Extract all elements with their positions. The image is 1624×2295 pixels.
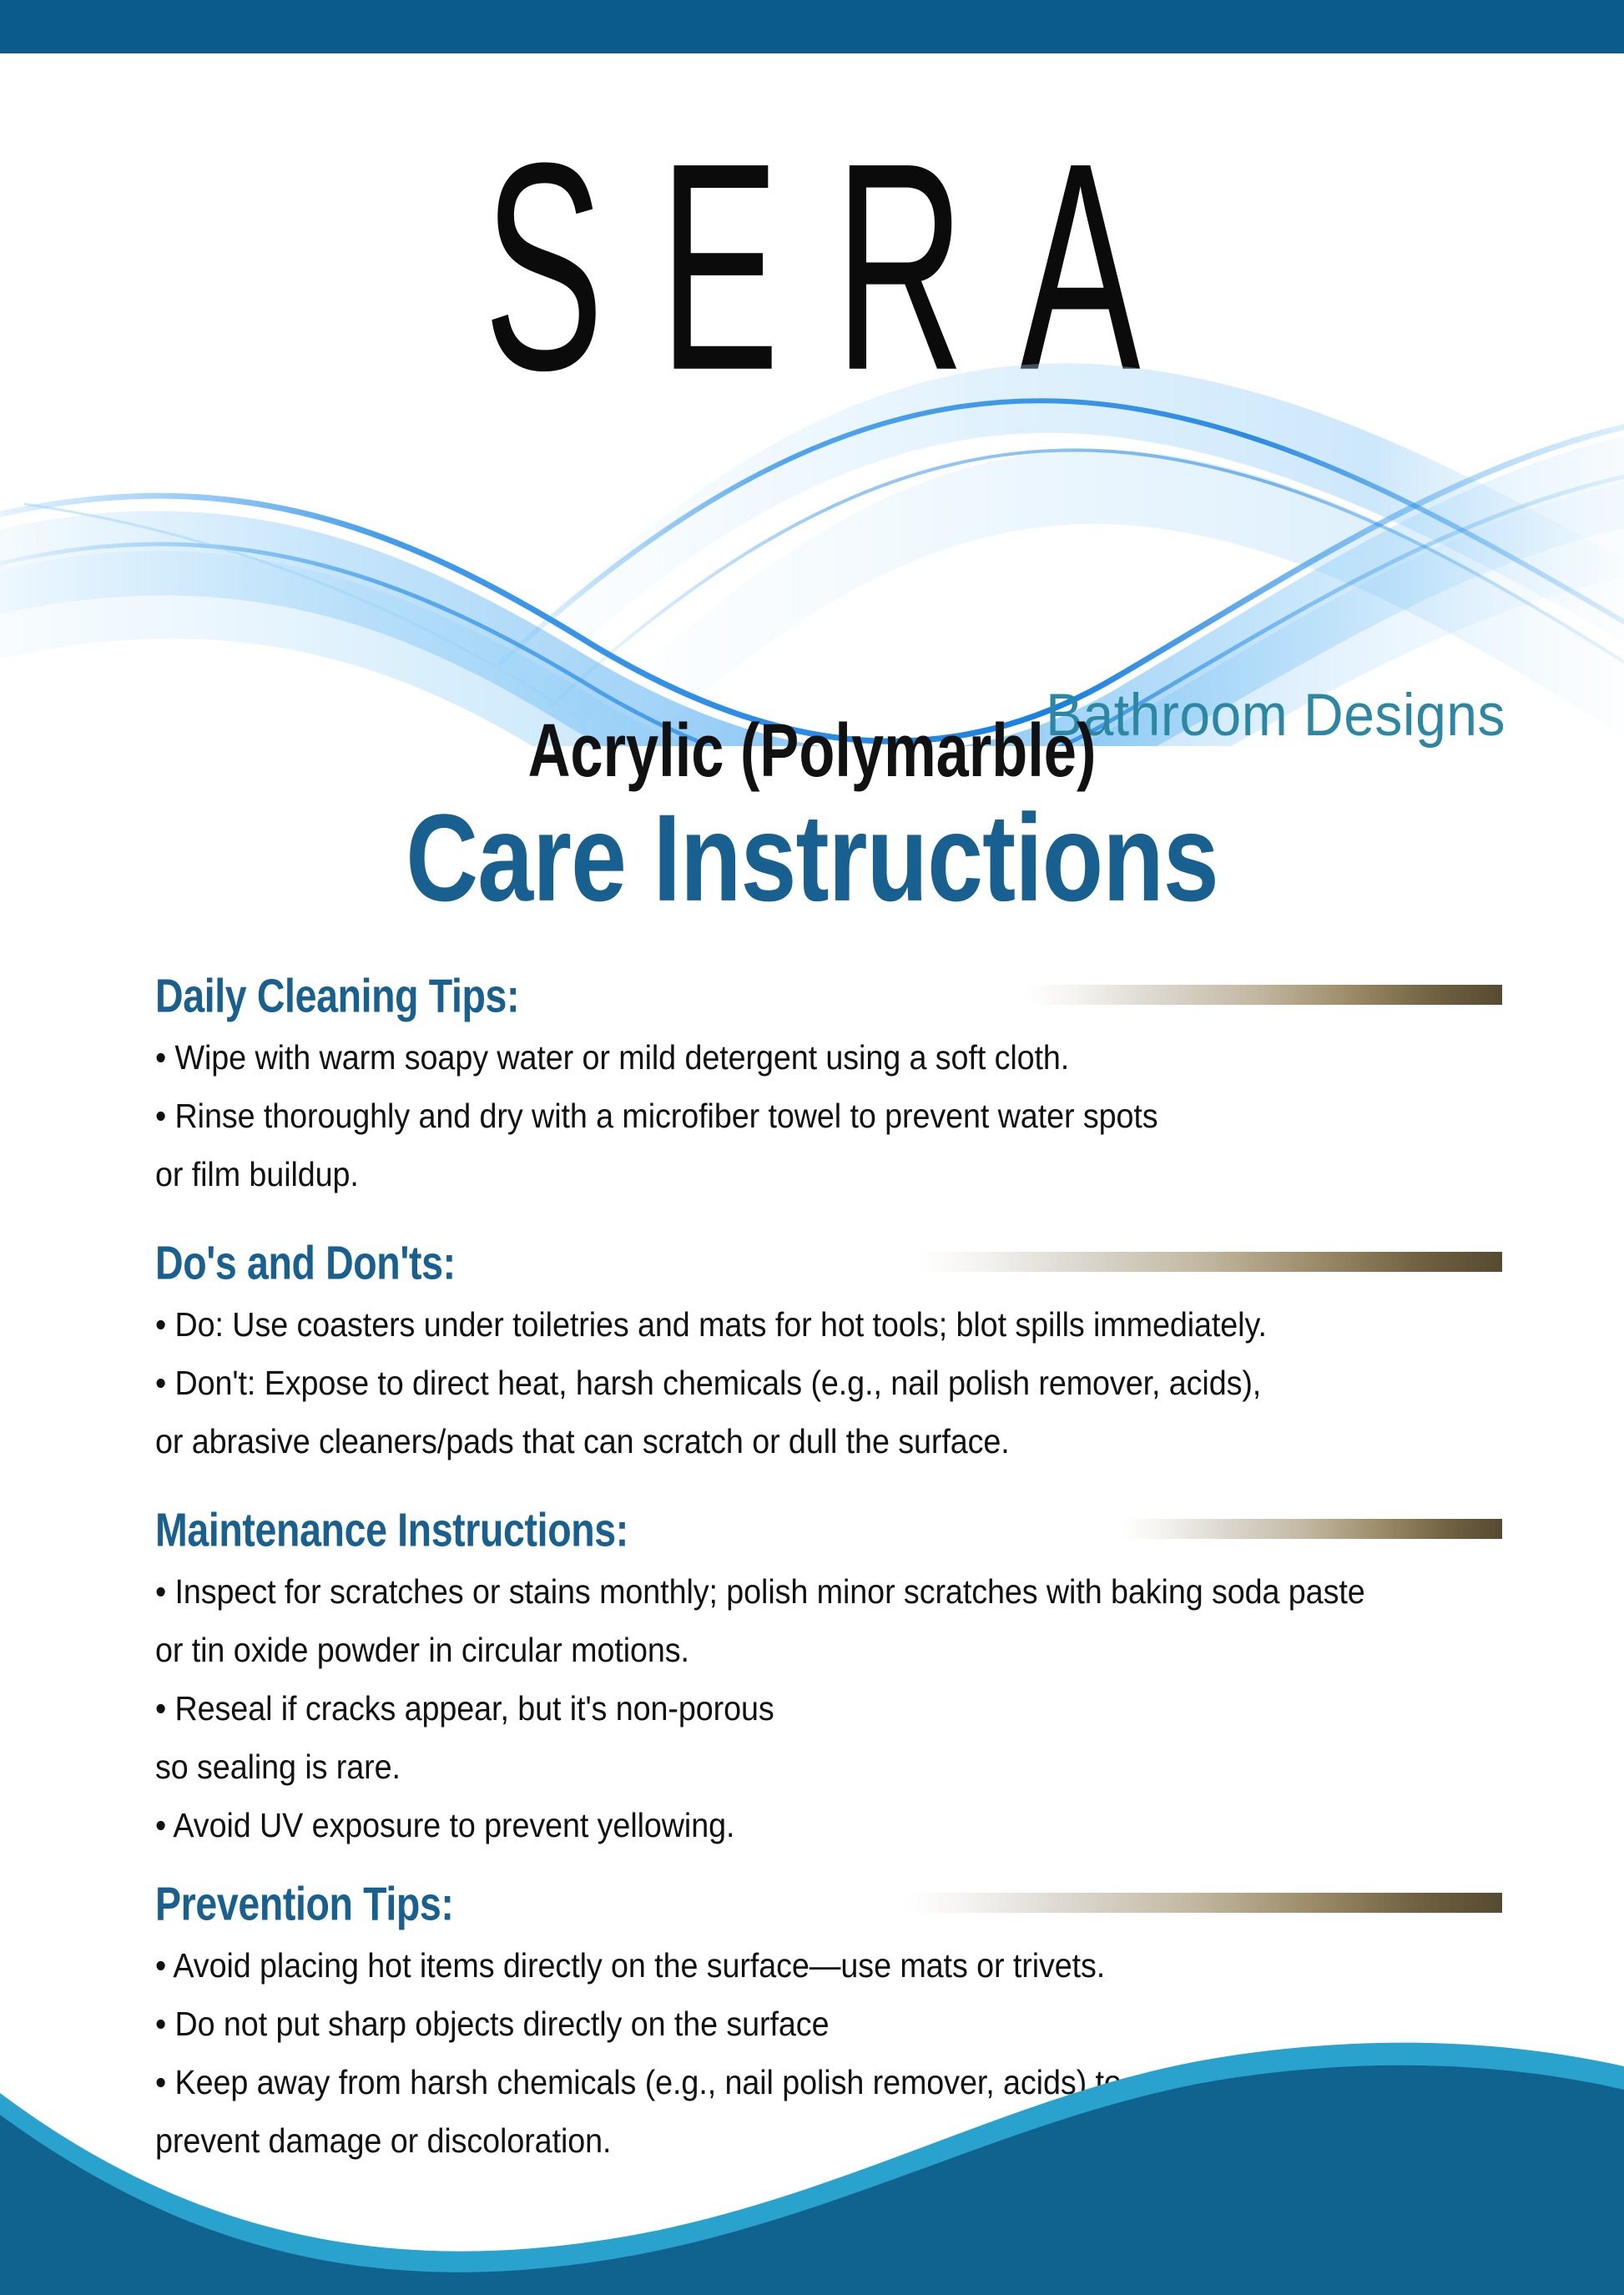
section-heading-row: Daily Cleaning Tips: (155, 968, 1490, 1023)
section-divider-rule (1120, 1519, 1502, 1539)
spacer (155, 1858, 1490, 1876)
list-item: or tin oxide powder in circular motions. (155, 1621, 1384, 1679)
subject-title: Acrylic (Polymarble) (98, 708, 1526, 794)
list-item: • Don't: Expose to direct heat, harsh ch… (155, 1354, 1384, 1412)
list-item: • Rinse thoroughly and dry with a microf… (155, 1087, 1384, 1145)
section-heading-label: Prevention Tips: (155, 1876, 454, 1931)
spacer (155, 1207, 1490, 1235)
list-item: prevent damage or discoloration. (155, 2111, 1384, 2170)
top-accent-bar (0, 0, 1624, 53)
list-item: or film buildup. (155, 1145, 1384, 1203)
page-title: Care Instructions (48, 786, 1575, 931)
bullet-list: • Do: Use coasters under toiletries and … (155, 1295, 1490, 1470)
section-heading-label: Daily Cleaning Tips: (155, 968, 519, 1023)
brand-wordmark: SERA (227, 119, 1396, 414)
section-dos-and-donts: Do's and Don'ts: • Do: Use coasters unde… (155, 1235, 1490, 1470)
section-daily-cleaning-tips: Daily Cleaning Tips: • Wipe with warm so… (155, 968, 1490, 1203)
list-item: so sealing is rare. (155, 1738, 1384, 1796)
section-heading-row: Prevention Tips: (155, 1876, 1490, 1931)
section-heading-row: Do's and Don'ts: (155, 1235, 1490, 1290)
list-item: or abrasive cleaners/pads that can scrat… (155, 1412, 1384, 1470)
bullet-list: • Inspect for scratches or stains monthl… (155, 1562, 1490, 1854)
section-heading-label: Do's and Don'ts: (155, 1235, 456, 1290)
spacer (155, 1474, 1490, 1502)
section-divider-rule (903, 1893, 1502, 1913)
bullet-list: • Avoid placing hot items directly on th… (155, 1936, 1490, 2170)
bullet-list: • Wipe with warm soapy water or mild det… (155, 1028, 1490, 1203)
section-prevention-tips: Prevention Tips: • Avoid placing hot ite… (155, 1876, 1490, 2170)
list-item: • Reseal if cracks appear, but it's non-… (155, 1679, 1384, 1738)
care-instruction-sections: Daily Cleaning Tips: • Wipe with warm so… (155, 968, 1490, 2173)
section-maintenance-instructions: Maintenance Instructions: • Inspect for … (155, 1502, 1490, 1854)
brand-header: SERA (0, 53, 1624, 721)
list-item: • Inspect for scratches or stains monthl… (155, 1562, 1384, 1621)
section-heading-label: Maintenance Instructions: (155, 1502, 628, 1557)
section-divider-rule (1025, 985, 1502, 1005)
list-item: • Wipe with warm soapy water or mild det… (155, 1028, 1384, 1087)
list-item: • Avoid UV exposure to prevent yellowing… (155, 1796, 1384, 1854)
list-item: • Do not put sharp objects directly on t… (155, 1995, 1384, 2053)
list-item: • Keep away from harsh chemicals (e.g., … (155, 2053, 1384, 2111)
section-heading-row: Maintenance Instructions: (155, 1502, 1490, 1557)
list-item: • Do: Use coasters under toiletries and … (155, 1295, 1384, 1354)
section-divider-rule (918, 1252, 1502, 1272)
list-item: • Avoid placing hot items directly on th… (155, 1936, 1384, 1995)
